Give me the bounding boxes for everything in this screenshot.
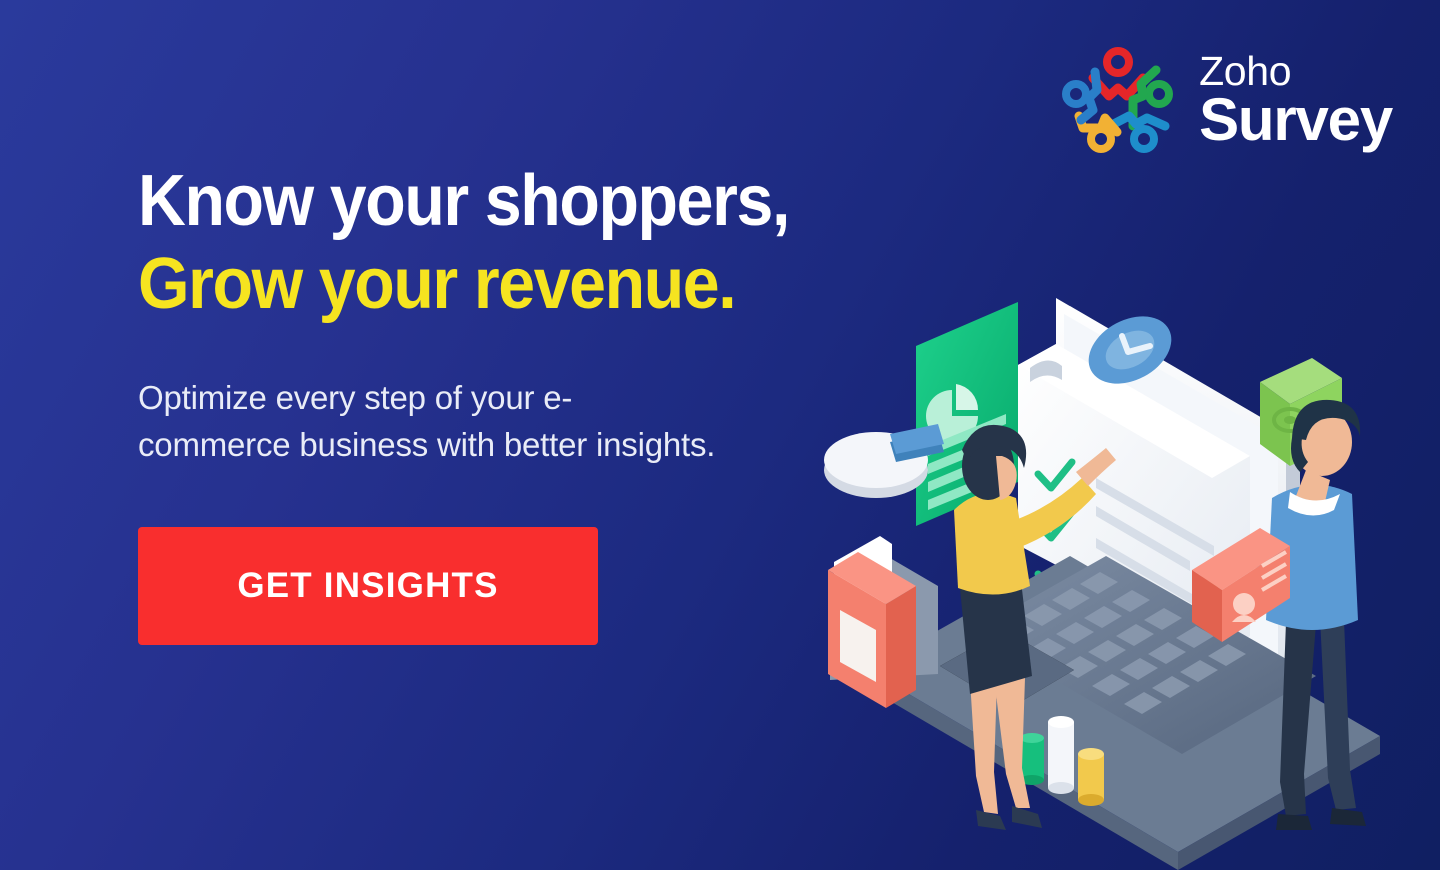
- zoho-logo-mark: [1059, 46, 1177, 154]
- zoho-survey-logo[interactable]: Zoho Survey: [1059, 46, 1392, 154]
- logo-product-text: Survey: [1199, 90, 1392, 150]
- headline-line-2: Grow your revenue.: [138, 249, 837, 320]
- profile-card: [1192, 528, 1290, 642]
- laptop-base: [868, 556, 1380, 870]
- laptop-screen: [1056, 298, 1300, 700]
- promo-banner: Zoho Survey Know your shoppers, Grow you…: [0, 0, 1440, 870]
- survey-checklist: [1036, 462, 1216, 674]
- logo-wordmark: Zoho Survey: [1199, 51, 1392, 150]
- get-insights-button[interactable]: GET INSIGHTS: [138, 527, 598, 645]
- woman-figure: [954, 425, 1116, 830]
- hero-subheadline: Optimize every step of your e-commerce b…: [138, 375, 718, 469]
- man-figure: [1192, 400, 1366, 830]
- page-title: Know your shoppers, Grow your revenue.: [138, 166, 837, 319]
- clock-badge: [1077, 303, 1183, 397]
- bar-cylinders: [1020, 716, 1104, 806]
- email-badge: [1260, 358, 1342, 466]
- isometric-illustration: [820, 270, 1440, 870]
- headline-line-1: Know your shoppers,: [138, 166, 837, 237]
- hero-copy: Know your shoppers, Grow your revenue. O…: [138, 166, 898, 645]
- pie-chart-icon: [926, 384, 978, 442]
- report-card-green: [916, 302, 1018, 526]
- survey-page: [1018, 344, 1250, 674]
